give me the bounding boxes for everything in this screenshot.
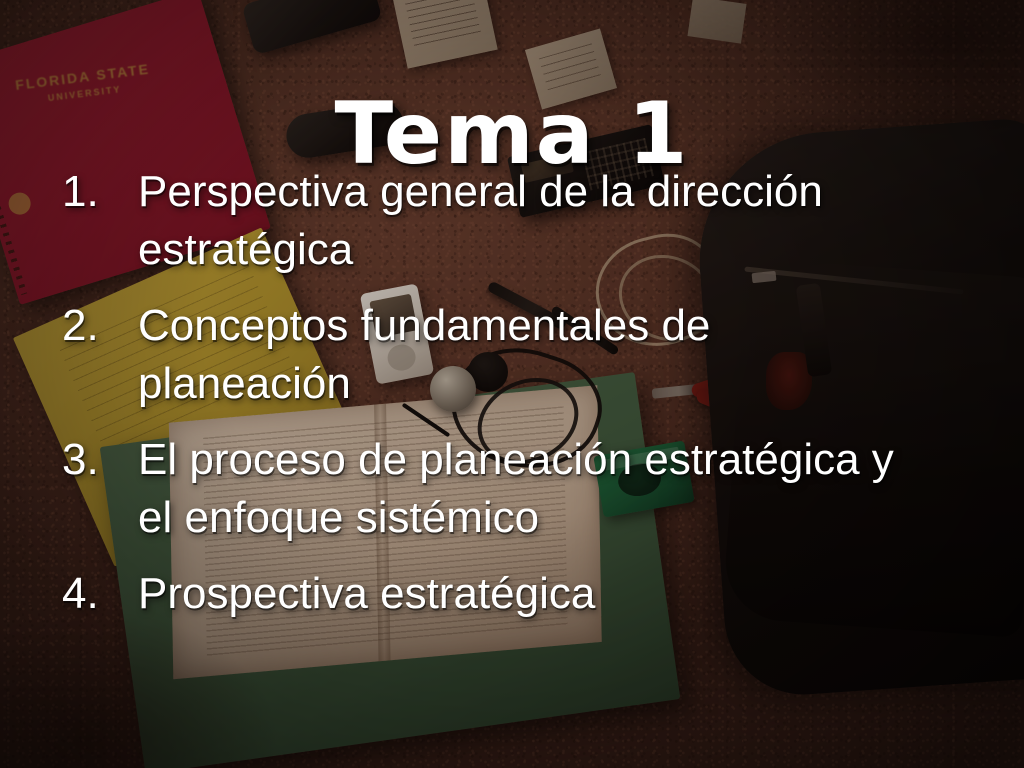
list-item: 4. Prospectiva estratégica <box>56 565 956 623</box>
topic-label: Prospectiva estratégica <box>138 565 928 623</box>
topic-label: Conceptos fundamentales de planeación <box>138 297 928 413</box>
presentation-slide: FLORIDA STATE UNIVERSITY <box>0 0 1024 768</box>
list-item: 3. El proceso de planeación estratégica … <box>56 431 956 547</box>
topic-list: 1. Perspectiva general de la dirección e… <box>56 163 956 641</box>
list-item: 1. Perspectiva general de la dirección e… <box>56 163 956 279</box>
topic-label: El proceso de planeación estratégica y e… <box>138 431 928 547</box>
topic-number: 2. <box>56 297 138 355</box>
topic-label: Perspectiva general de la dirección estr… <box>138 163 928 279</box>
slide-content: Tema 1 1. Perspectiva general de la dire… <box>0 0 1024 768</box>
topic-number: 1. <box>56 163 138 221</box>
topic-number: 3. <box>56 431 138 489</box>
list-item: 2. Conceptos fundamentales de planeación <box>56 297 956 413</box>
topic-number: 4. <box>56 565 138 623</box>
